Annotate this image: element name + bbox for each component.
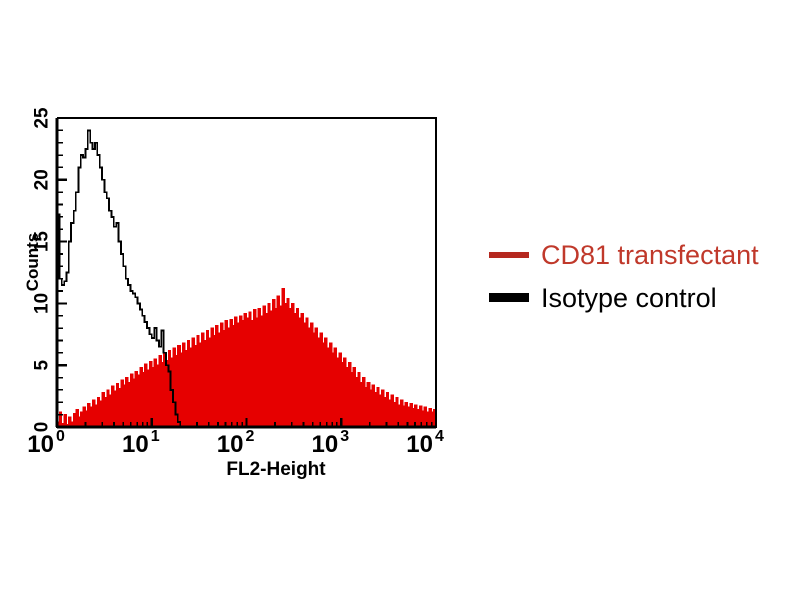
x-tick-label: 102 [217, 428, 255, 458]
y-axis-label: Counts [23, 207, 43, 317]
svg-text:2: 2 [246, 428, 255, 445]
svg-text:10: 10 [122, 431, 149, 458]
y-tick-label: 0 [32, 422, 53, 433]
svg-text:10: 10 [312, 431, 339, 458]
svg-text:10: 10 [406, 431, 433, 458]
legend-label-isotype-control: Isotype control [541, 284, 717, 312]
legend-line-icon-black [489, 293, 529, 302]
x-tick-label: 104 [406, 428, 444, 458]
x-axis-label: FL2-Height [136, 459, 416, 481]
chart-legend: CD81 transfectant Isotype control [489, 233, 800, 319]
svg-text:10: 10 [217, 431, 244, 458]
legend-line-icon-red [489, 252, 529, 258]
y-tick-label: 5 [32, 359, 53, 370]
legend-label-cd81-transfectant: CD81 transfectant [541, 241, 759, 269]
svg-text:1: 1 [151, 428, 160, 445]
legend-item-isotype-control: Isotype control [489, 276, 800, 319]
svg-text:3: 3 [340, 428, 349, 445]
y-tick-label: 25 [32, 107, 53, 129]
x-tick-label: 103 [312, 428, 350, 458]
svg-text:0: 0 [56, 428, 65, 445]
svg-text:4: 4 [435, 428, 444, 445]
legend-item-cd81-transfectant: CD81 transfectant [489, 233, 800, 276]
x-tick-label: 101 [122, 428, 160, 458]
y-tick-label: 20 [32, 169, 53, 190]
svg-text:10: 10 [27, 431, 54, 458]
flow-cytometry-figure: 1001011021031040510152025 Counts FL2-Hei… [0, 0, 800, 600]
